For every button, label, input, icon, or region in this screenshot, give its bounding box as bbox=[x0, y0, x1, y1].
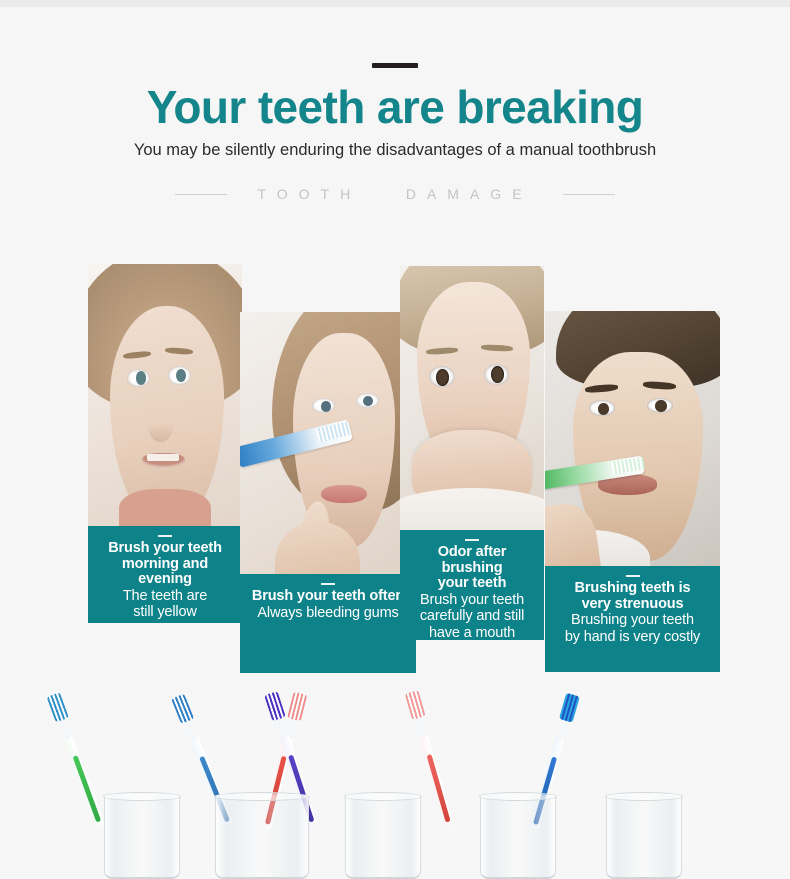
caption-dash-icon bbox=[158, 535, 172, 537]
card-4-photo bbox=[545, 311, 720, 566]
glass-2 bbox=[215, 795, 309, 879]
card-2-caption: Brush your teeth often Always bleeding g… bbox=[240, 574, 416, 673]
card-3-caption: Odor after brushing your teeth Brush you… bbox=[400, 530, 544, 640]
product-page: Your teeth are breaking You may be silen… bbox=[0, 0, 790, 879]
card-3-title-line2: your teeth bbox=[406, 576, 538, 592]
card-1-subtitle-line1: The teeth are bbox=[94, 589, 236, 605]
caption-dash-icon bbox=[465, 539, 479, 541]
card-2-subtitle-line1: Always bleeding gums bbox=[246, 606, 410, 622]
card-4-subtitle-line2: by hand is very costly bbox=[551, 630, 714, 646]
card-4-title-line2: very strenuous bbox=[551, 597, 714, 613]
card-3-subtitle-line2: carefully and still bbox=[406, 609, 538, 625]
caption-dash-icon bbox=[321, 583, 335, 585]
card-1-caption: Brush your teeth morning and evening The… bbox=[88, 526, 242, 623]
worried-woman-portrait-icon bbox=[88, 264, 242, 526]
card-4-title-line1: Brushing teeth is bbox=[551, 581, 714, 597]
problem-card-3[interactable]: Odor after brushing your teeth Brush you… bbox=[400, 266, 544, 640]
card-1-photo bbox=[88, 264, 242, 526]
card-1-subtitle-line2: still yellow bbox=[94, 605, 236, 621]
card-1-title-line1: Brush your teeth bbox=[94, 541, 236, 557]
card-2-photo bbox=[240, 312, 416, 574]
card-2-title-line1: Brush your teeth often bbox=[246, 589, 410, 605]
card-4-caption: Brushing teeth is very strenuous Brushin… bbox=[545, 566, 720, 672]
problem-card-4[interactable]: Brushing teeth is very strenuous Brushin… bbox=[545, 311, 720, 672]
woman-covering-mouth-icon bbox=[400, 266, 544, 530]
card-3-subtitle-line1: Brush your teeth bbox=[406, 593, 538, 609]
glass-5 bbox=[606, 795, 682, 879]
problem-card-2[interactable]: Brush your teeth often Always bleeding g… bbox=[240, 312, 416, 673]
woman-pointing-at-gums-icon bbox=[240, 312, 416, 574]
card-4-subtitle-line1: Brushing your teeth bbox=[551, 613, 714, 629]
card-3-title-line1: Odor after brushing bbox=[406, 545, 538, 576]
card-3-subtitle-line3: have a mouth bbox=[406, 626, 538, 641]
problem-card-1[interactable]: Brush your teeth morning and evening The… bbox=[88, 264, 242, 623]
glass-4 bbox=[480, 795, 556, 879]
glass-3 bbox=[345, 795, 421, 879]
man-brushing-teeth-icon bbox=[545, 311, 720, 566]
card-3-photo bbox=[400, 266, 544, 530]
glass-1 bbox=[104, 795, 180, 879]
caption-dash-icon bbox=[626, 575, 640, 577]
card-1-title-line2: morning and evening bbox=[94, 557, 236, 588]
toothbrush-banner bbox=[0, 690, 790, 879]
